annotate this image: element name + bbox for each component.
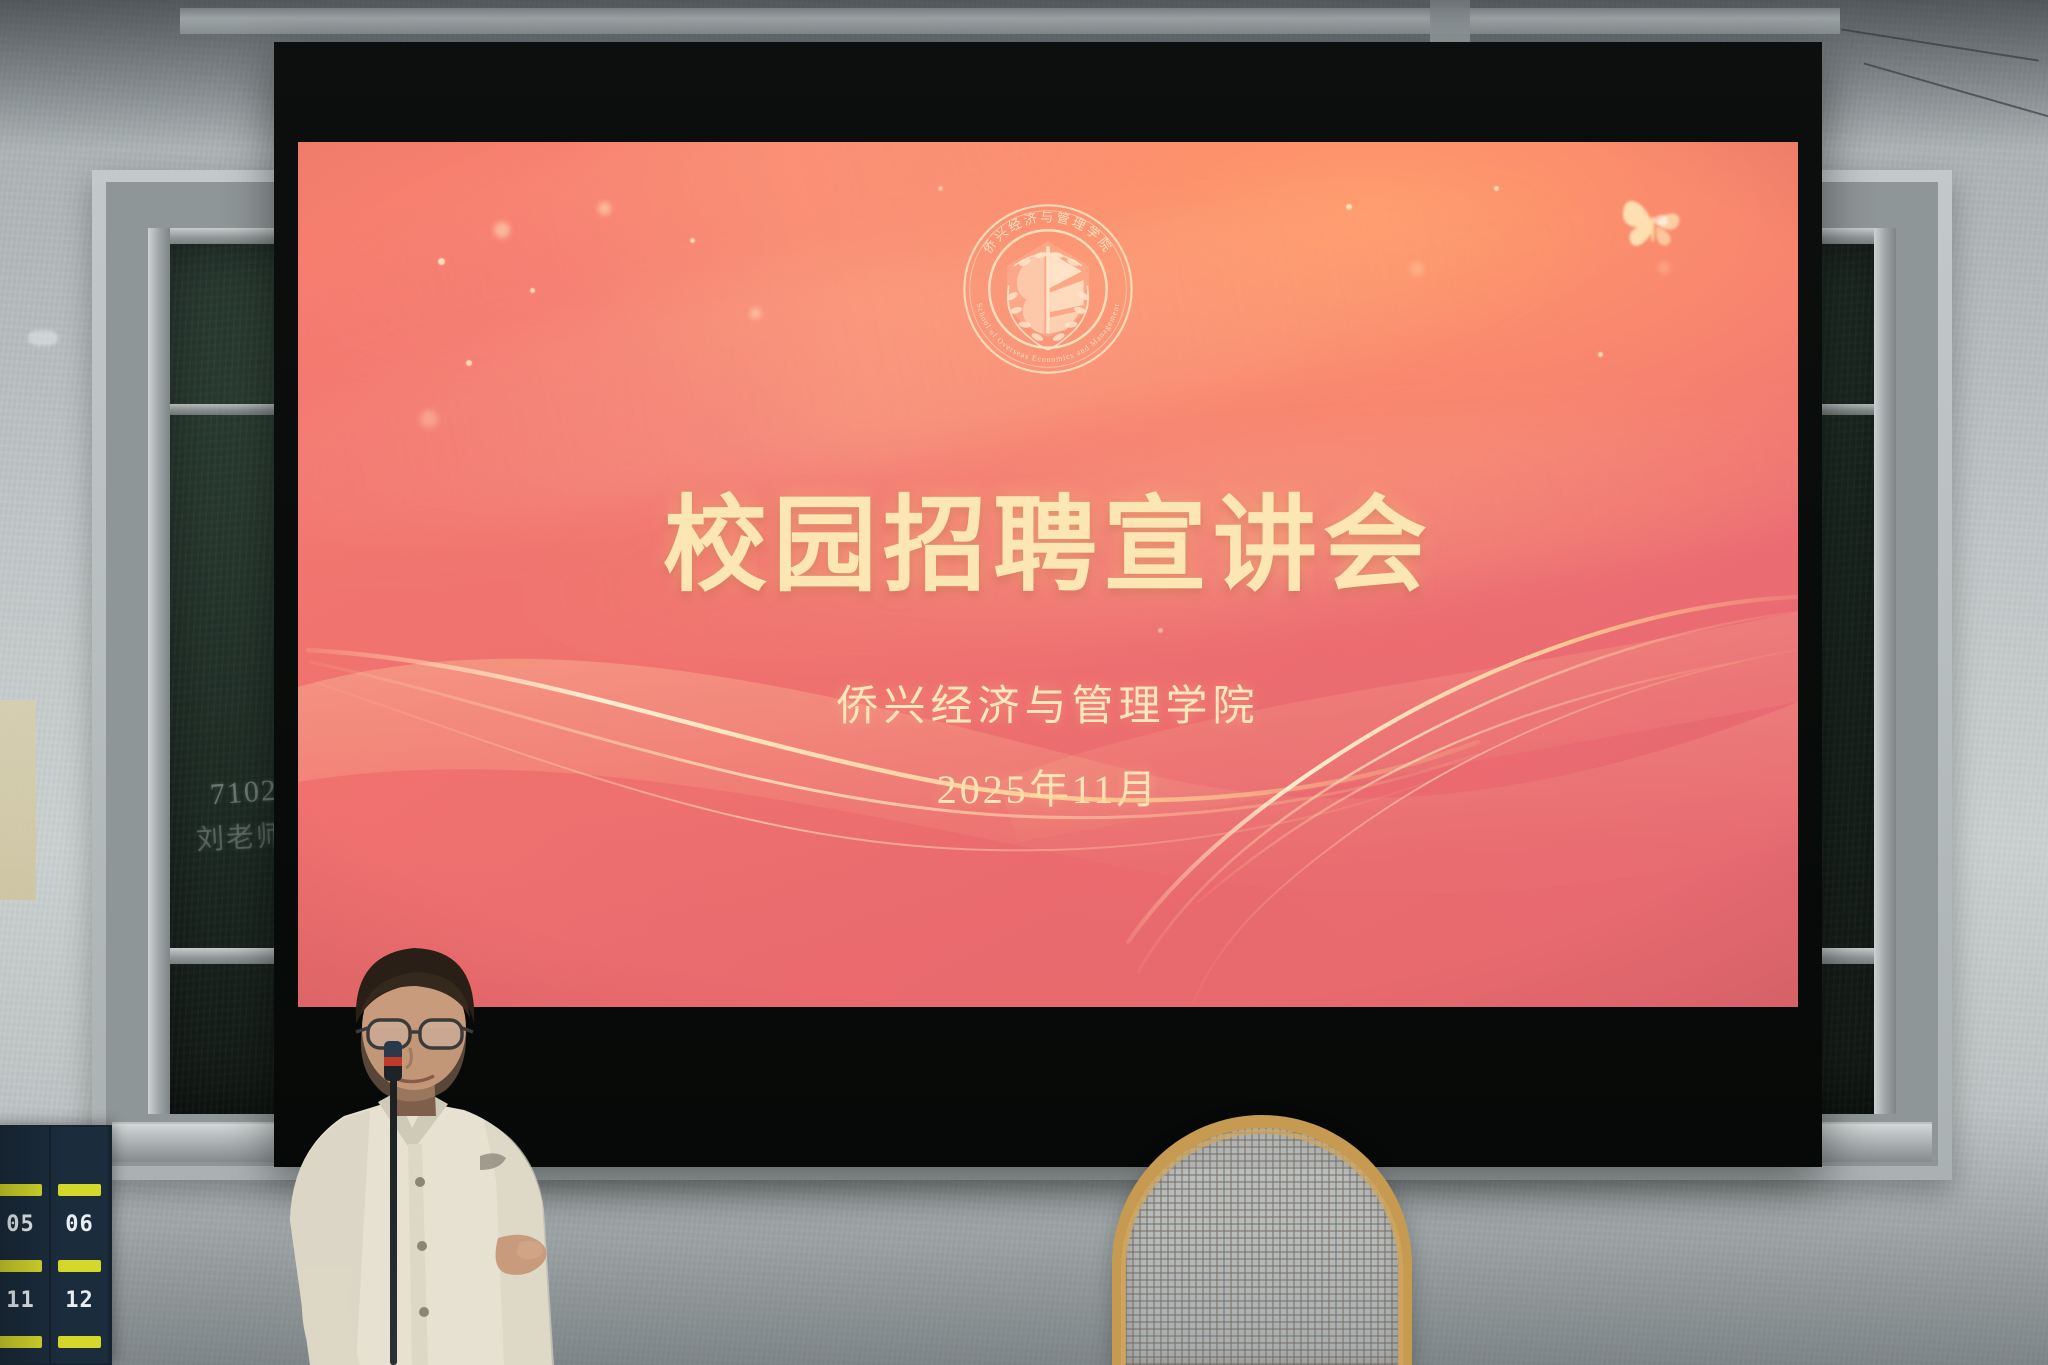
ceiling-bracket [1430, 0, 1470, 42]
classroom-scene: 7102 刘老师 A R 1 16 1 [0, 0, 2048, 1365]
chalkboard-post-right [1874, 228, 1896, 1114]
microphone-head [384, 1041, 402, 1081]
chalkboard-post-left [148, 228, 170, 1114]
number-board-shading [0, 1127, 110, 1363]
wall-poster [0, 700, 36, 900]
presentation-slide: 侨兴经济与管理学院 School of Overseas Economics a… [298, 142, 1798, 1007]
ceiling-rail [180, 8, 1840, 34]
student-presenter [252, 920, 582, 1365]
seat-number-board[interactable]: 05 06 11 12 17 18 [0, 1125, 112, 1365]
microphone-stand [390, 1065, 397, 1365]
wicker-chair [1112, 1115, 1412, 1365]
wall-scuff-1 [28, 330, 58, 346]
slide-vignette [298, 142, 1798, 1007]
